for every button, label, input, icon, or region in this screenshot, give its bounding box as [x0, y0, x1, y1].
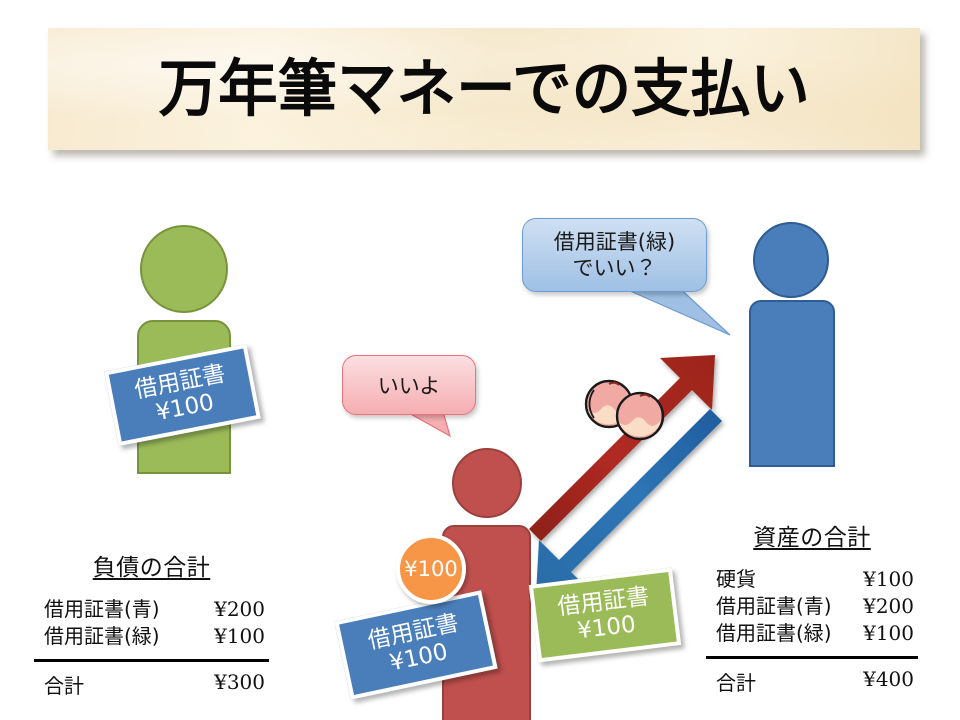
total-label: 合計	[44, 670, 84, 699]
row-amount: ¥200	[214, 596, 265, 623]
table-divider	[34, 659, 269, 662]
peaches-goods-icon	[578, 378, 674, 444]
row-label: 借用証書(緑)	[44, 623, 160, 650]
table-row: 借用証書(青) ¥200	[706, 593, 918, 620]
note-amount: ¥100	[576, 611, 637, 644]
coin-amount: ¥100	[404, 557, 457, 581]
row-amount: ¥100	[214, 623, 265, 650]
liabilities-table-rows: 借用証書(青) ¥200 借用証書(緑) ¥100	[34, 596, 269, 650]
row-label: 借用証書(青)	[44, 596, 160, 623]
table-row: 借用証書(緑) ¥100	[34, 623, 269, 650]
figure-blue-head	[753, 222, 829, 298]
table-row: 借用証書(青) ¥200	[34, 596, 269, 623]
liabilities-table-title: 負債の合計	[34, 548, 269, 582]
speech-bubble-blue: 借用証書(緑) でいい？	[522, 218, 707, 292]
title-banner: 万年筆マネーでの支払い	[48, 28, 920, 150]
assets-table: 資産の合計 硬貨 ¥100 借用証書(青) ¥200 借用証書(緑) ¥100 …	[706, 518, 918, 696]
note-card-green-figure[interactable]: 借用証書 ¥100	[104, 344, 261, 446]
speech-bubble-pink: いいよ	[342, 355, 476, 415]
row-label: 借用証書(青)	[716, 593, 832, 620]
note-card-transferred[interactable]: 借用証書 ¥100	[529, 568, 681, 663]
table-divider	[706, 656, 918, 659]
assets-total-row: 合計 ¥400	[706, 667, 918, 696]
table-row: 借用証書(緑) ¥100	[706, 620, 918, 647]
row-amount: ¥100	[863, 566, 914, 593]
coin-badge[interactable]: ¥100	[396, 534, 466, 604]
figure-red-head	[452, 448, 522, 518]
page-title: 万年筆マネーでの支払い	[158, 58, 809, 120]
row-amount: ¥100	[863, 620, 914, 647]
row-amount: ¥200	[863, 593, 914, 620]
row-label: 硬貨	[716, 566, 756, 593]
assets-table-title: 資産の合計	[706, 518, 918, 552]
liabilities-total-row: 合計 ¥300	[34, 670, 269, 699]
bubble-blue-line1: 借用証書(緑)	[554, 229, 675, 255]
slide-canvas: 万年筆マネーでの支払い	[0, 0, 960, 720]
figure-green-head	[140, 225, 228, 313]
bubble-blue-line2: でいい？	[554, 255, 675, 281]
total-amount: ¥400	[863, 667, 914, 696]
liabilities-table: 負債の合計 借用証書(青) ¥200 借用証書(緑) ¥100 合計 ¥300	[34, 548, 269, 699]
table-row: 硬貨 ¥100	[706, 566, 918, 593]
total-amount: ¥300	[214, 670, 265, 699]
total-label: 合計	[716, 667, 756, 696]
assets-table-rows: 硬貨 ¥100 借用証書(青) ¥200 借用証書(緑) ¥100	[706, 566, 918, 647]
row-label: 借用証書(緑)	[716, 620, 832, 647]
figure-blue-body	[749, 300, 835, 467]
bubble-pink-line1: いいよ	[378, 370, 441, 400]
